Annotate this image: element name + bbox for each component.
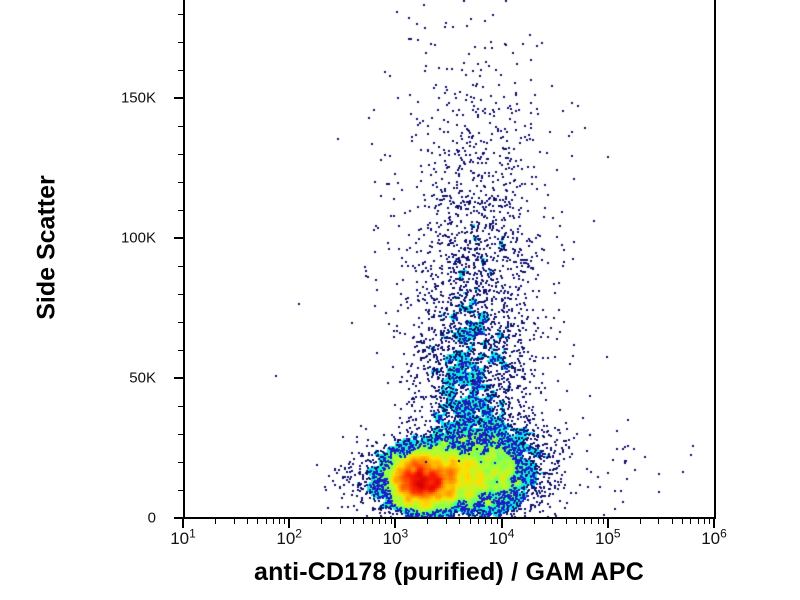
x-tick-minor (704, 519, 705, 524)
x-tick-minor (363, 519, 364, 524)
x-tick-minor (266, 519, 267, 524)
x-tick-minor (576, 519, 577, 524)
x-tick-minor (584, 519, 585, 524)
x-tick-minor (427, 519, 428, 524)
x-tick-minor (709, 519, 710, 524)
right-spine (714, 0, 716, 519)
y-tick-minor (178, 294, 183, 295)
x-tick-major (501, 519, 503, 528)
x-tick-label: 106 (701, 530, 727, 547)
scatter-plot-area (183, 0, 715, 518)
x-tick-minor (552, 519, 553, 524)
x-tick-minor (234, 519, 235, 524)
x-tick-minor (372, 519, 373, 524)
x-tick-label: 103 (383, 530, 409, 547)
x-tick-minor (446, 519, 447, 524)
x-tick-minor (598, 519, 599, 524)
y-axis-spine (183, 0, 185, 519)
x-tick-minor (215, 519, 216, 524)
x-tick-major (288, 519, 290, 528)
y-tick-minor (178, 14, 183, 15)
y-tick-major (174, 377, 183, 379)
x-tick-minor (591, 519, 592, 524)
x-tick-label: 104 (489, 530, 515, 547)
x-tick-minor (698, 519, 699, 524)
x-tick-minor (391, 519, 392, 524)
x-tick-minor (321, 519, 322, 524)
y-tick-minor (178, 154, 183, 155)
y-tick-minor (178, 182, 183, 183)
y-tick-minor (178, 42, 183, 43)
x-tick-major (182, 519, 184, 528)
x-tick-minor (247, 519, 248, 524)
x-tick-major (394, 519, 396, 528)
y-tick-minor (178, 350, 183, 351)
x-tick-minor (459, 519, 460, 524)
y-tick-minor (178, 126, 183, 127)
y-tick-minor (178, 70, 183, 71)
x-tick-minor (353, 519, 354, 524)
x-tick-major (607, 519, 609, 528)
y-axis-tick-labels: 050K100K150K (0, 0, 168, 519)
x-tick-minor (658, 519, 659, 524)
y-tick-label: 150K (121, 91, 156, 106)
y-tick-major (174, 97, 183, 99)
x-tick-minor (273, 519, 274, 524)
y-tick-major (174, 517, 183, 519)
x-tick-minor (534, 519, 535, 524)
x-tick-minor (640, 519, 641, 524)
x-tick-minor (470, 519, 471, 524)
x-tick-minor (690, 519, 691, 524)
y-tick-minor (178, 406, 183, 407)
x-tick-minor (478, 519, 479, 524)
x-tick-minor (485, 519, 486, 524)
y-tick-minor (178, 434, 183, 435)
y-tick-minor (178, 490, 183, 491)
y-tick-minor (178, 266, 183, 267)
x-tick-minor (284, 519, 285, 524)
y-tick-minor (178, 210, 183, 211)
x-tick-minor (279, 519, 280, 524)
x-tick-label: 102 (276, 530, 302, 547)
x-tick-minor (340, 519, 341, 524)
x-tick-label: 101 (170, 530, 196, 547)
scatter-points-canvas (183, 0, 715, 518)
x-tick-minor (672, 519, 673, 524)
y-tick-label: 100K (121, 231, 156, 246)
x-tick-minor (566, 519, 567, 524)
x-tick-label: 105 (595, 530, 621, 547)
y-axis-title: Side Scatter (33, 83, 62, 413)
x-tick-minor (491, 519, 492, 524)
x-tick-minor (682, 519, 683, 524)
y-tick-label: 0 (148, 511, 156, 526)
x-tick-minor (603, 519, 604, 524)
y-tick-major (174, 237, 183, 239)
x-axis-spine (183, 517, 716, 519)
y-tick-minor (178, 322, 183, 323)
x-tick-minor (385, 519, 386, 524)
y-tick-label: 50K (129, 371, 156, 386)
x-tick-minor (497, 519, 498, 524)
y-tick-minor (178, 462, 183, 463)
x-axis-title: anti-CD178 (purified) / GAM APC (183, 558, 715, 587)
x-tick-major (713, 519, 715, 528)
x-tick-minor (257, 519, 258, 524)
flow-cytometry-figure: 101102103104105106 050K100K150K anti-CD1… (0, 0, 800, 600)
x-tick-minor (379, 519, 380, 524)
